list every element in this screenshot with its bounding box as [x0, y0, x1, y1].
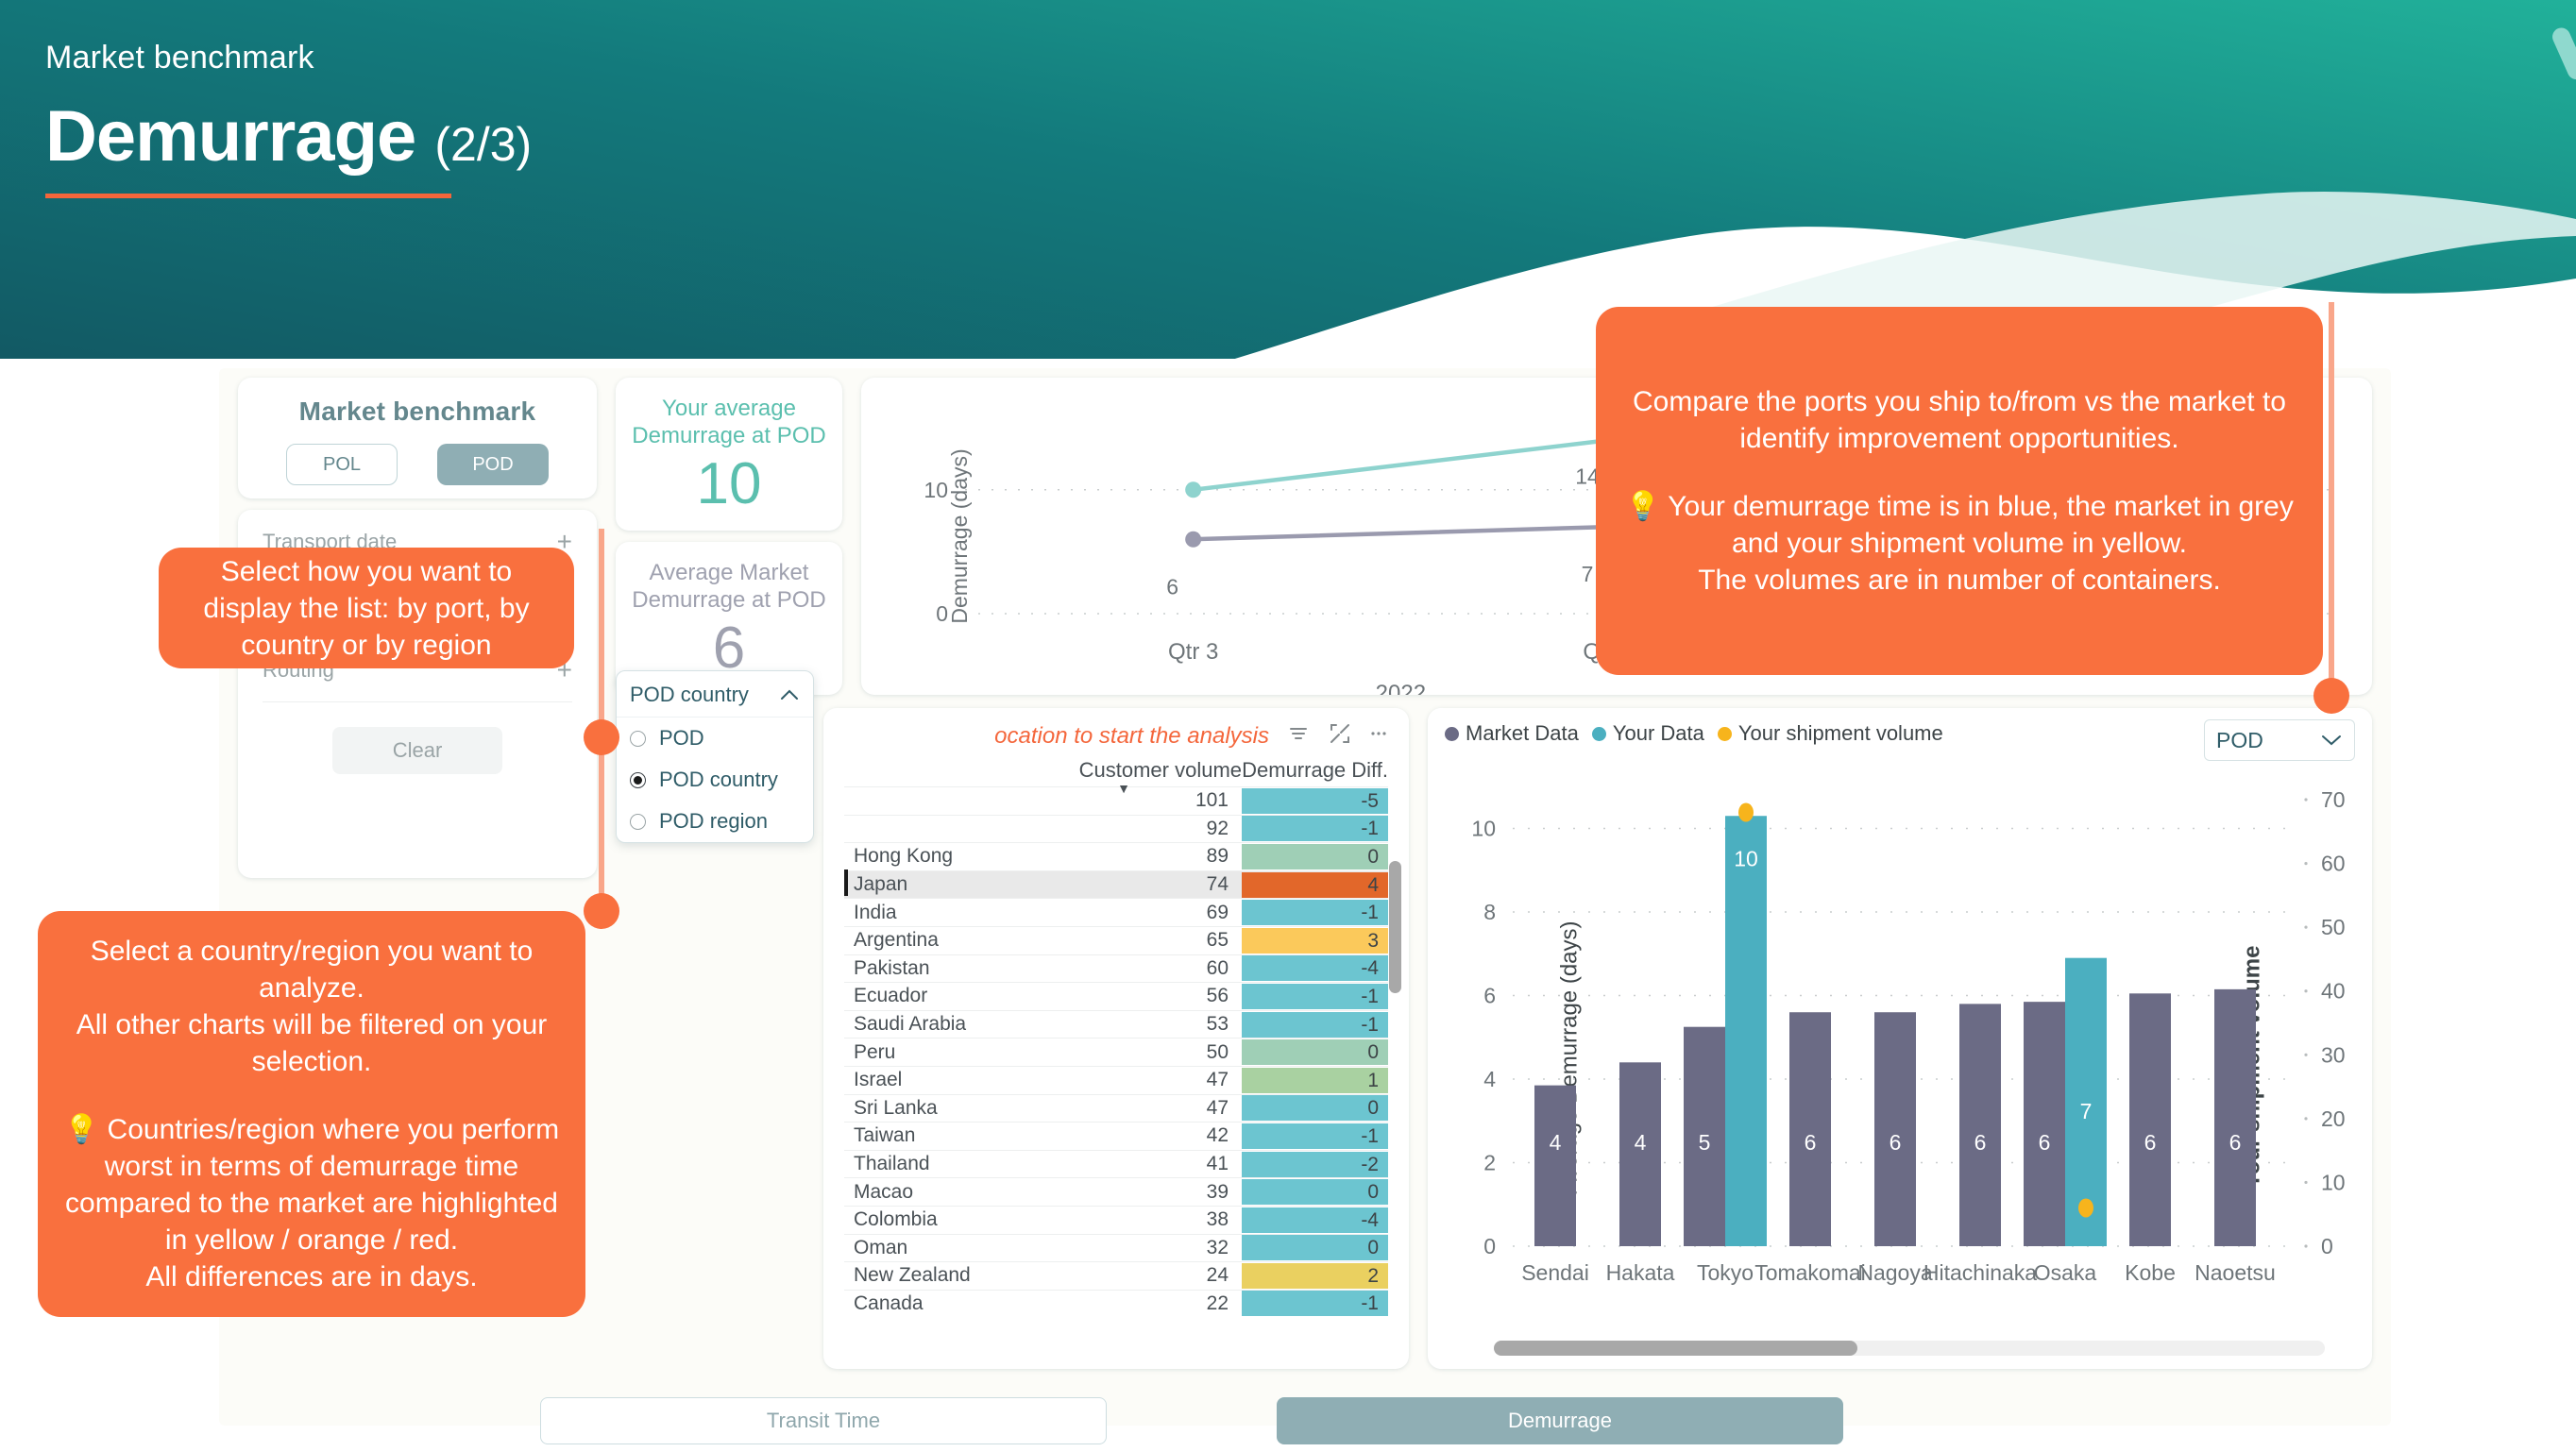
svg-text:6: 6 — [1890, 1130, 1902, 1155]
dropdown-option-pod-country[interactable]: POD country — [617, 759, 813, 801]
row-country-name: Thailand — [844, 1153, 1062, 1175]
bar-chart-scrollbar-track[interactable] — [1494, 1341, 2325, 1356]
svg-text:50: 50 — [2321, 915, 2346, 939]
row-demurrage-diff: 3 — [1242, 928, 1388, 954]
kpi-value: 6 — [713, 619, 745, 678]
more-options-icon[interactable] — [1369, 724, 1388, 748]
svg-text:60: 60 — [2321, 852, 2346, 876]
svg-text:0: 0 — [1483, 1234, 1496, 1258]
callout-anchor-dot-select — [584, 893, 619, 929]
title-underline — [45, 194, 451, 198]
row-demurrage-diff: 2 — [1242, 1263, 1388, 1289]
row-customer-volume: 47 — [1062, 1069, 1242, 1091]
svg-text:7: 7 — [2080, 1099, 2093, 1123]
row-country-name: Canada — [844, 1292, 1062, 1315]
svg-text:6: 6 — [1483, 984, 1496, 1008]
filter-icon[interactable] — [1286, 721, 1311, 751]
row-customer-volume: 32 — [1062, 1237, 1242, 1259]
row-country-name: Saudi Arabia — [844, 1013, 1062, 1036]
row-country-name: Israel — [844, 1069, 1062, 1091]
callout-select-paragraph-2: 💡 Countries/region where you perform wor… — [62, 1111, 561, 1295]
table-row[interactable]: 101-5 — [844, 786, 1388, 815]
table-row[interactable]: Macao390 — [844, 1177, 1388, 1206]
radio-icon[interactable] — [630, 731, 646, 747]
svg-text:Hitachinaka: Hitachinaka — [1924, 1260, 2037, 1285]
svg-text:Qtr 3: Qtr 3 — [1168, 639, 1218, 665]
svg-text:10: 10 — [2321, 1170, 2346, 1194]
callout-compare-paragraph-1: Compare the ports you ship to/from vs th… — [1620, 383, 2298, 457]
page-header: Market benchmark Demurrage (2/3) — [0, 0, 2576, 359]
row-demurrage-diff: 4 — [1242, 872, 1388, 898]
dropdown-option-pod-region[interactable]: POD region — [617, 801, 813, 842]
sort-caret-icon: ▼ — [1117, 781, 1130, 796]
row-demurrage-diff: -5 — [1242, 788, 1388, 814]
table-row[interactable]: Pakistan60-4 — [844, 954, 1388, 983]
row-demurrage-diff: -1 — [1242, 984, 1388, 1009]
pod-toggle-button[interactable]: POD — [437, 444, 549, 485]
row-customer-volume: 56 — [1062, 985, 1242, 1007]
row-customer-volume: 65 — [1062, 929, 1242, 952]
svg-text:0: 0 — [2321, 1234, 2333, 1258]
row-customer-volume: 39 — [1062, 1181, 1242, 1204]
svg-text:0: 0 — [936, 601, 948, 626]
svg-text:70: 70 — [2321, 787, 2346, 812]
svg-text:2: 2 — [1483, 1151, 1496, 1175]
row-demurrage-diff: 0 — [1242, 1039, 1388, 1065]
row-customer-volume: 92 — [1062, 818, 1242, 840]
table-row[interactable]: Japan744 — [844, 870, 1388, 899]
row-demurrage-diff: -1 — [1242, 900, 1388, 925]
svg-text:6: 6 — [1974, 1130, 1987, 1155]
legend-swatch — [1592, 727, 1606, 741]
table-row[interactable]: Saudi Arabia53-1 — [844, 1010, 1388, 1038]
row-customer-volume: 50 — [1062, 1041, 1242, 1064]
bar-chart-plot: 02468100102030405060704Sendai4Hakata510T… — [1428, 755, 2372, 1359]
pod-grouping-dropdown: POD country POD POD country POD region — [616, 670, 737, 843]
table-row[interactable]: Thailand41-2 — [844, 1150, 1388, 1178]
row-country-name: Argentina — [844, 929, 1062, 952]
row-demurrage-diff: -4 — [1242, 955, 1388, 981]
row-customer-volume: 22 — [1062, 1292, 1242, 1315]
svg-text:6: 6 — [2144, 1130, 2157, 1155]
table-row[interactable]: Argentina653 — [844, 926, 1388, 954]
svg-text:5: 5 — [1699, 1130, 1711, 1155]
table-row[interactable]: Peru500 — [844, 1038, 1388, 1066]
svg-text:20: 20 — [2321, 1106, 2346, 1131]
table-row[interactable]: Hong Kong890 — [844, 842, 1388, 870]
callout-compare-ports: Compare the ports you ship to/from vs th… — [1596, 307, 2323, 675]
page-title-fraction: (2/3) — [434, 118, 532, 171]
svg-text:Tomakomai: Tomakomai — [1754, 1260, 1866, 1285]
chevron-up-icon — [779, 683, 800, 707]
table-row[interactable]: Israel471 — [844, 1066, 1388, 1094]
table-row[interactable]: Colombia38-4 — [844, 1206, 1388, 1234]
dropdown-current-value-button[interactable]: POD country — [617, 671, 813, 718]
row-country-name: Oman — [844, 1237, 1062, 1259]
table-row[interactable]: Sri Lanka470 — [844, 1094, 1388, 1123]
row-country-name: India — [844, 902, 1062, 924]
svg-text:10: 10 — [924, 478, 948, 502]
kpi-your-average-demurrage: Your average Demurrage at POD 10 — [616, 378, 842, 531]
callout-leader-line-display — [599, 529, 604, 736]
kpi-label-line2: Demurrage at POD — [632, 586, 825, 614]
row-customer-volume: 42 — [1062, 1124, 1242, 1147]
legend-item-market-data[interactable]: Market Data — [1445, 721, 1579, 746]
kpi-label-line1: Your average — [662, 395, 796, 422]
svg-text:Tokyo: Tokyo — [1697, 1260, 1754, 1285]
row-customer-volume: 47 — [1062, 1097, 1242, 1120]
column-header-customer-volume[interactable]: Customer volume ▼ — [1062, 758, 1242, 783]
row-demurrage-diff: 0 — [1242, 1235, 1388, 1260]
svg-text:Sendai: Sendai — [1521, 1260, 1589, 1285]
page-title: Demurrage (2/3) — [45, 101, 532, 173]
row-country-name: Hong Kong — [844, 845, 1062, 868]
row-customer-volume: 101 — [1062, 789, 1242, 812]
row-demurrage-diff: -2 — [1242, 1152, 1388, 1177]
svg-text:4: 4 — [1483, 1067, 1496, 1091]
row-demurrage-diff: 0 — [1242, 1095, 1388, 1121]
table-row[interactable]: Taiwan42-1 — [844, 1122, 1388, 1150]
table-row[interactable]: Canada22-1 — [844, 1290, 1388, 1318]
svg-text:6: 6 — [1805, 1130, 1817, 1155]
pol-pod-toggle-group: POL POD — [238, 444, 597, 485]
table-column-headers: Customer volume ▼ Demurrage Diff. — [823, 752, 1409, 786]
bar-chart-scrollbar-thumb[interactable] — [1494, 1341, 1857, 1356]
callout-display-list: Select how you want to display the list:… — [159, 548, 574, 668]
row-demurrage-diff: -1 — [1242, 1291, 1388, 1316]
row-customer-volume: 74 — [1062, 873, 1242, 896]
svg-text:8: 8 — [1483, 900, 1496, 924]
chevron-down-icon — [2320, 728, 2343, 753]
legend-item-your-data[interactable]: Your Data — [1592, 721, 1704, 746]
row-country-name: Sri Lanka — [844, 1097, 1062, 1120]
svg-text:10: 10 — [1471, 817, 1496, 841]
table-rows: 101-592-1Hong Kong890Japan744India69-1Ar… — [823, 786, 1409, 1317]
tab-transit-time[interactable]: Transit Time — [540, 1397, 1107, 1444]
svg-text:7: 7 — [1582, 562, 1594, 586]
table-row[interactable]: Ecuador56-1 — [844, 982, 1388, 1010]
list-panel-header: ocation to start the analysis — [823, 708, 1409, 752]
row-country-name: Pakistan — [844, 957, 1062, 980]
callout-anchor-dot-compare — [2313, 678, 2349, 714]
svg-text:4: 4 — [1550, 1130, 1562, 1155]
row-customer-volume: 38 — [1062, 1208, 1242, 1231]
svg-text:Kobe: Kobe — [2125, 1260, 2176, 1285]
callout-compare-paragraph-2: 💡 Your demurrage time is in blue, the ma… — [1620, 488, 2298, 599]
svg-text:4: 4 — [1635, 1130, 1647, 1155]
table-row[interactable]: New Zealand242 — [844, 1261, 1388, 1290]
kpi-label-line2: Demurrage at POD — [632, 422, 825, 449]
svg-text:6: 6 — [2039, 1130, 2051, 1155]
row-country-name: Peru — [844, 1041, 1062, 1064]
callout-select-paragraph-1: Select a country/region you want to anal… — [62, 933, 561, 1080]
list-panel-hint: ocation to start the analysis — [844, 723, 1269, 750]
svg-text:Hakata: Hakata — [1606, 1260, 1675, 1285]
kpi-label-line1: Average Market — [650, 559, 809, 586]
svg-text:40: 40 — [2321, 979, 2346, 1004]
row-demurrage-diff: -1 — [1242, 1123, 1388, 1149]
table-row[interactable]: Oman320 — [844, 1234, 1388, 1262]
market-benchmark-card: Market benchmark POL POD — [238, 378, 597, 498]
row-demurrage-diff: 1 — [1242, 1068, 1388, 1093]
table-vertical-scrollbar[interactable] — [1389, 861, 1401, 993]
svg-text:30: 30 — [2321, 1042, 2346, 1067]
column-header-demurrage-diff[interactable]: Demurrage Diff. — [1242, 758, 1388, 783]
svg-text:Naoetsu: Naoetsu — [2195, 1260, 2276, 1285]
row-demurrage-diff: -1 — [1242, 1012, 1388, 1038]
market-benchmark-title: Market benchmark — [238, 378, 597, 427]
expand-icon[interactable] — [1328, 721, 1352, 751]
row-country-name: Macao — [844, 1181, 1062, 1204]
row-demurrage-diff: -1 — [1242, 816, 1388, 841]
radio-icon[interactable] — [630, 814, 646, 830]
legend-item-your-shipment-volume[interactable]: Your shipment volume — [1718, 721, 1943, 746]
row-country-name: Ecuador — [844, 985, 1062, 1007]
row-country-name: Japan — [844, 873, 1062, 896]
row-demurrage-diff: -4 — [1242, 1207, 1388, 1233]
pod-select-value: POD — [2216, 728, 2263, 753]
kpi-value: 10 — [697, 455, 762, 514]
legend-swatch — [1445, 727, 1459, 741]
svg-text:6: 6 — [1166, 574, 1178, 599]
page-kicker: Market benchmark — [45, 40, 532, 76]
table-row[interactable]: 92-1 — [844, 815, 1388, 843]
table-row[interactable]: India69-1 — [844, 898, 1388, 926]
column-header-name — [844, 758, 1062, 783]
line-chart-y-axis-label: Demurrage (days) — [947, 448, 973, 623]
radio-icon-selected[interactable] — [630, 772, 646, 788]
svg-text:10: 10 — [1734, 846, 1758, 870]
legend-swatch — [1718, 727, 1732, 741]
row-customer-volume: 41 — [1062, 1153, 1242, 1175]
row-customer-volume: 60 — [1062, 957, 1242, 980]
svg-text:Nagoya: Nagoya — [1857, 1260, 1932, 1285]
row-customer-volume: 69 — [1062, 902, 1242, 924]
row-demurrage-diff: 0 — [1242, 1179, 1388, 1205]
pol-toggle-button[interactable]: POL — [286, 444, 398, 485]
svg-text:2022: 2022 — [1376, 681, 1426, 695]
callout-anchor-dot-display — [584, 719, 619, 755]
row-country-name: Colombia — [844, 1208, 1062, 1231]
clear-filters-button[interactable]: Clear — [332, 727, 502, 774]
row-country-name: Taiwan — [844, 1124, 1062, 1147]
svg-text:Osaka: Osaka — [2034, 1260, 2097, 1285]
row-customer-volume: 89 — [1062, 845, 1242, 868]
country-list-panel: ocation to start the analysis Customer — [823, 708, 1409, 1369]
callout-select-country: Select a country/region you want to anal… — [38, 911, 585, 1317]
port-demurrage-bar-chart: Market Data Your Data Your shipment volu… — [1428, 708, 2372, 1369]
dropdown-option-pod[interactable]: POD — [617, 718, 813, 759]
row-customer-volume: 24 — [1062, 1264, 1242, 1287]
row-country-name: New Zealand — [844, 1264, 1062, 1287]
page-title-text: Demurrage — [45, 96, 415, 177]
svg-text:6: 6 — [2229, 1130, 2242, 1155]
row-demurrage-diff: 0 — [1242, 844, 1388, 870]
callout-leader-line-compare — [2329, 302, 2334, 699]
tab-demurrage[interactable]: Demurrage — [1277, 1397, 1843, 1444]
row-customer-volume: 53 — [1062, 1013, 1242, 1036]
